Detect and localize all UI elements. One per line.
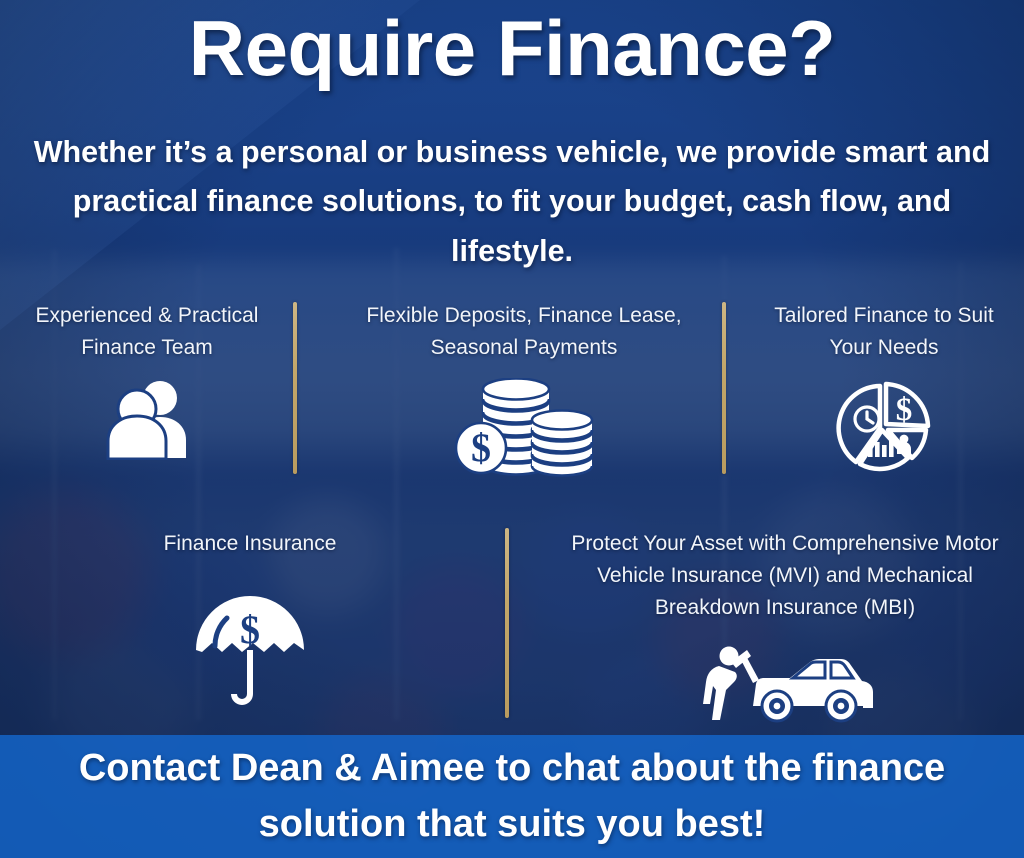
feature-label: Flexible Deposits, Finance Lease, Season… — [340, 300, 708, 364]
page-subtitle: Whether it’s a personal or business vehi… — [18, 128, 1006, 276]
finance-promo-poster: Require Finance? Whether it’s a personal… — [0, 0, 1024, 858]
svg-text:$: $ — [471, 425, 491, 470]
feature-row-two: Finance Insurance $ — [0, 528, 1024, 720]
feature-label: Tailored Finance to Suit Your Needs — [752, 300, 1016, 364]
feature-label: Protect Your Asset with Comprehensive Mo… — [560, 528, 1010, 624]
pie-chart-icon: $ — [752, 378, 1016, 478]
coins-icon: $ — [340, 378, 708, 482]
umbrella-dollar-icon: $ — [100, 588, 400, 708]
feature-protect-asset: Protect Your Asset with Comprehensive Mo… — [560, 528, 1010, 724]
banner-text: Contact Dean & Aimee to chat about the f… — [0, 741, 1024, 852]
feature-flexible-deposits: Flexible Deposits, Finance Lease, Season… — [340, 300, 708, 482]
column-divider — [293, 302, 297, 474]
feature-tailored-finance: Tailored Finance to Suit Your Needs — [752, 300, 1016, 478]
svg-text:$: $ — [896, 392, 913, 428]
people-icon — [8, 378, 286, 460]
feature-row-one: Experienced & Practical Finance Team — [0, 300, 1024, 475]
svg-text:$: $ — [240, 607, 260, 652]
feature-finance-insurance: Finance Insurance $ — [100, 528, 400, 708]
feature-label: Finance Insurance — [100, 528, 400, 560]
contact-banner: Contact Dean & Aimee to chat about the f… — [0, 735, 1024, 858]
feature-label: Experienced & Practical Finance Team — [8, 300, 286, 364]
page-title: Require Finance? — [0, 8, 1024, 90]
column-divider — [722, 302, 726, 474]
feature-experienced-team: Experienced & Practical Finance Team — [8, 300, 286, 460]
column-divider — [505, 528, 509, 718]
mechanic-car-icon — [560, 640, 1010, 724]
